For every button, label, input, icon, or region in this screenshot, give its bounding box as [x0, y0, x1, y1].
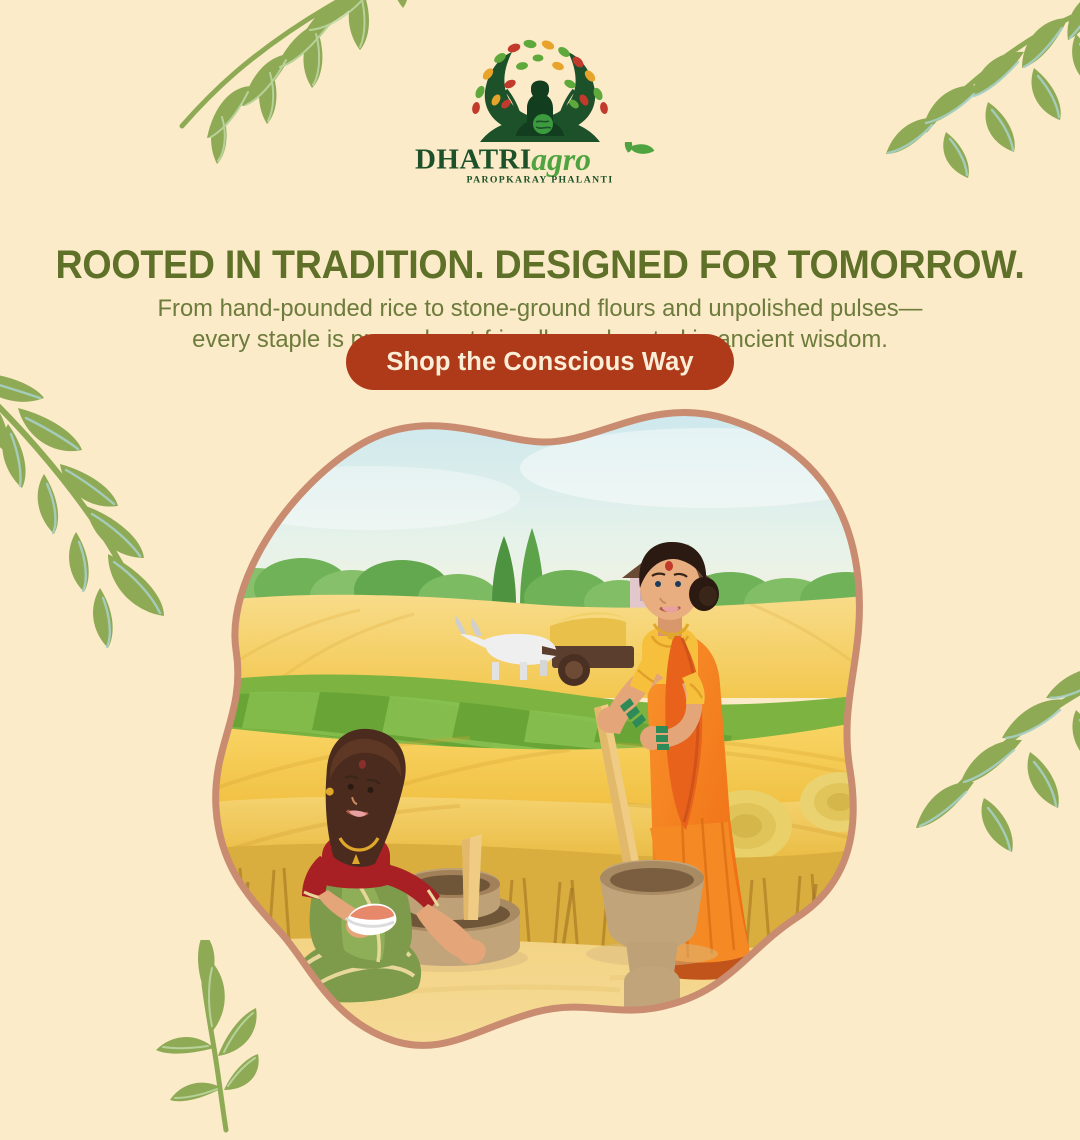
- shop-cta-button[interactable]: Shop the Conscious Way: [346, 334, 733, 390]
- tree-logo-icon: [452, 38, 628, 146]
- hero-illustration: [190, 398, 890, 1062]
- brand-logo[interactable]: DHATRI agro PAROPKARAY PHALANTI: [0, 38, 1080, 188]
- brand-name-secondary: agro: [531, 142, 591, 177]
- brand-name-primary: DHATRI: [415, 143, 532, 175]
- subtitle-line-1: From hand-pounded rice to stone-ground f…: [104, 293, 977, 324]
- poster-canvas: DHATRI agro PAROPKARAY PHALANTI ROOTED I…: [0, 0, 1080, 1080]
- village-grain-processing-scene: [190, 398, 890, 1062]
- page-title: ROOTED IN TRADITION. DESIGNED FOR TOMORR…: [32, 243, 1047, 288]
- leaf-branch-middle-right-icon: [904, 658, 1080, 908]
- brand-tagline: PAROPKARAY PHALANTI: [466, 174, 613, 185]
- brand-wordmark: DHATRI agro PAROPKARAY PHALANTI: [408, 142, 672, 186]
- cta-container: Shop the Conscious Way: [0, 334, 1080, 390]
- leaf-branch-middle-left-icon: [0, 372, 202, 662]
